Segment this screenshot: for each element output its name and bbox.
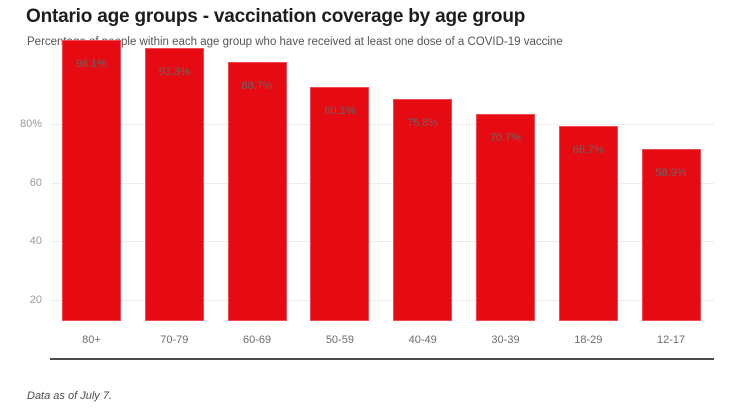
bar-group[interactable]: 96.1%80+ — [62, 0, 121, 380]
chart-page: Ontario age groups - vaccination coverag… — [0, 0, 740, 417]
bar-value-label: 75.8% — [393, 117, 452, 129]
bar[interactable] — [476, 114, 535, 321]
bar-value-label: 66.7% — [559, 144, 618, 156]
bar-group[interactable]: 93.3%70-79 — [145, 0, 204, 380]
plot-area: 20406080% 96.1%80+93.3%70-7988.7%60-6980… — [0, 0, 740, 380]
x-axis-category-label: 80+ — [62, 334, 121, 346]
bar-group[interactable]: 88.7%60-69 — [228, 0, 287, 380]
bar[interactable] — [145, 48, 204, 321]
bar[interactable] — [310, 87, 369, 321]
bar-value-label: 58.9% — [642, 167, 701, 179]
chart-footnote: Data as of July 7. — [27, 390, 112, 402]
bar[interactable] — [393, 99, 452, 321]
bar[interactable] — [228, 62, 287, 321]
bar-group[interactable]: 70.7%30-39 — [476, 0, 535, 380]
x-axis-category-label: 18-29 — [559, 334, 618, 346]
bar-value-label: 93.3% — [145, 66, 204, 78]
bar-group[interactable]: 66.7%18-29 — [559, 0, 618, 380]
x-axis-category-label: 50-59 — [310, 334, 369, 346]
bar-group[interactable]: 75.8%40-49 — [393, 0, 452, 380]
bar-group[interactable]: 58.9%12-17 — [642, 0, 701, 380]
x-axis-category-label: 60-69 — [228, 334, 287, 346]
bar-value-label: 88.7% — [228, 80, 287, 92]
bar-value-label: 80.1% — [310, 105, 369, 117]
bar-value-label: 96.1% — [62, 58, 121, 70]
x-axis-category-label: 40-49 — [393, 334, 452, 346]
bar-value-label: 70.7% — [476, 132, 535, 144]
bar[interactable] — [62, 40, 121, 321]
bar-group[interactable]: 80.1%50-59 — [310, 0, 369, 380]
bar-series: 96.1%80+93.3%70-7988.7%60-6980.1%50-5975… — [0, 0, 740, 380]
x-axis-line — [50, 358, 714, 360]
x-axis-category-label: 12-17 — [642, 334, 701, 346]
x-axis-category-label: 30-39 — [476, 334, 535, 346]
x-axis-category-label: 70-79 — [145, 334, 204, 346]
